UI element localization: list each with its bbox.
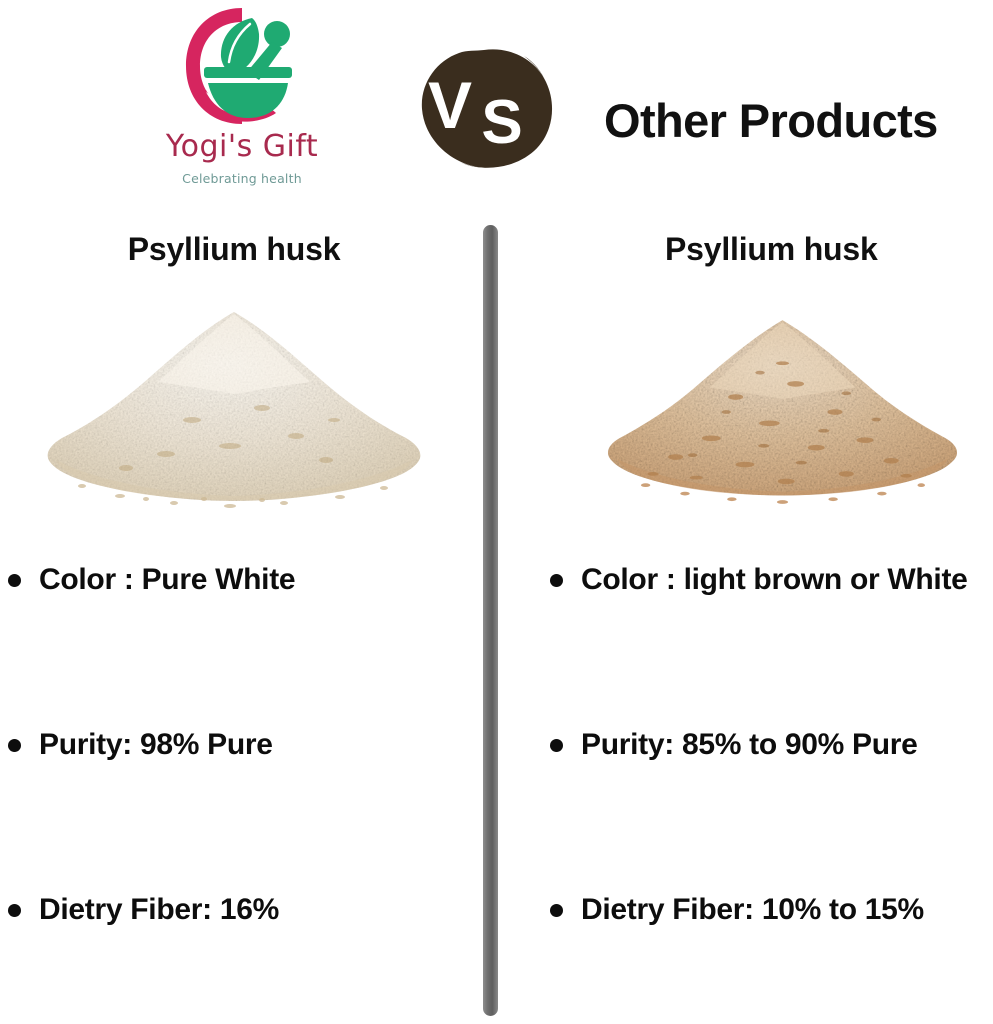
brand-logo: Yogi's Gift Celebrating health	[152, 4, 332, 196]
vertical-divider-bar	[483, 225, 498, 1016]
spec-item: Color : Pure White	[0, 560, 468, 725]
spec-text: Color : Pure White	[39, 560, 468, 600]
product-label-left: Psyllium husk	[0, 232, 468, 267]
vs-ink-blot-icon: V S	[414, 48, 560, 170]
spec-text: Purity: 98% Pure	[39, 725, 468, 765]
light-brown-psyllium-husk-powder-pile-icon	[595, 300, 970, 525]
vs-label-v: V	[428, 68, 472, 142]
bullet-dot-icon	[8, 904, 21, 917]
powder-pile-right	[530, 300, 993, 535]
spec-item: Color : light brown or White	[530, 560, 993, 725]
bullet-dot-icon	[550, 574, 563, 587]
spec-list-right: Color : light brown or White Purity: 85%…	[530, 560, 993, 930]
brand-tagline: Celebrating health	[152, 171, 332, 186]
powder-pile-left	[0, 300, 468, 535]
spec-text: Color : light brown or White	[581, 560, 993, 600]
vs-label-s: S	[481, 88, 522, 157]
product-label-right: Psyllium husk	[530, 232, 993, 267]
spec-item: Dietry Fiber: 10% to 15%	[530, 890, 993, 930]
vs-badge: V S	[414, 48, 560, 170]
column-other-products: Psyllium husk	[530, 215, 993, 1024]
header-band: Yogi's Gift Celebrating health V S Other…	[0, 0, 993, 215]
spec-item: Purity: 98% Pure	[0, 725, 468, 890]
comparison-infographic: Yogi's Gift Celebrating health V S Other…	[0, 0, 993, 1024]
bullet-dot-icon	[550, 904, 563, 917]
other-products-title: Other Products	[604, 97, 938, 144]
bullet-dot-icon	[8, 739, 21, 752]
spec-list-left: Color : Pure White Purity: 98% Pure Diet…	[0, 560, 468, 930]
bullet-dot-icon	[8, 574, 21, 587]
spec-text: Purity: 85% to 90% Pure	[581, 725, 993, 765]
spec-text: Dietry Fiber: 10% to 15%	[581, 890, 993, 930]
column-yogis-gift: Psyllium husk	[0, 215, 468, 1024]
spec-text: Dietry Fiber: 16%	[39, 890, 468, 930]
white-psyllium-husk-powder-pile-icon	[34, 300, 434, 525]
spec-item: Dietry Fiber: 16%	[0, 890, 468, 930]
bullet-dot-icon	[550, 739, 563, 752]
spec-item: Purity: 85% to 90% Pure	[530, 725, 993, 890]
brand-wordmark: Yogi's Gift	[152, 132, 332, 162]
mortar-pestle-leaf-hand-logo-icon	[176, 4, 308, 128]
